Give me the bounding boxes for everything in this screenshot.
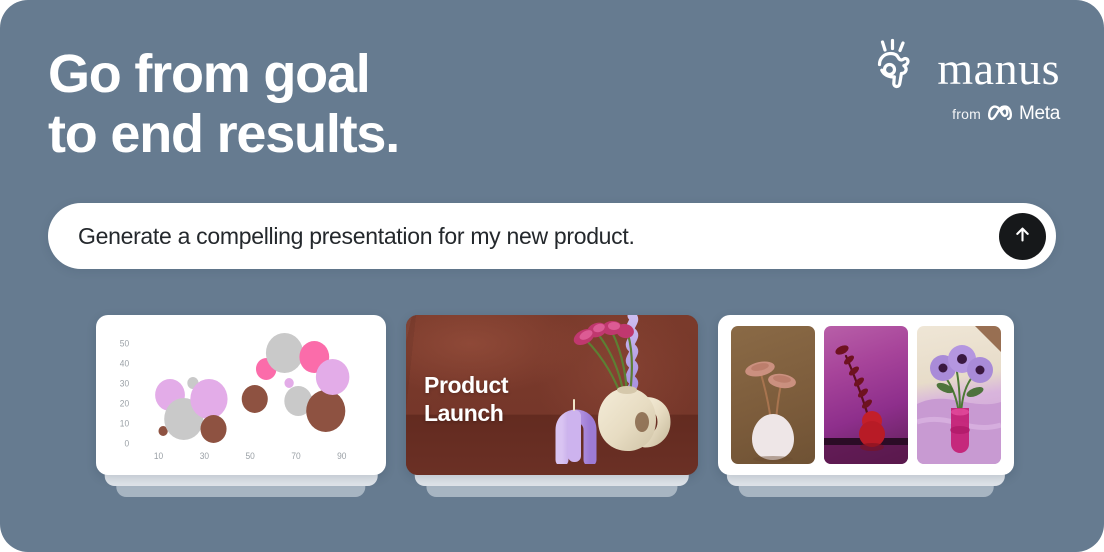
arrow-up-icon (1012, 224, 1033, 248)
product-still-life-image (524, 315, 694, 469)
card-row: 01020304050 1030507090 (0, 315, 1104, 515)
prompt-input[interactable]: Generate a compelling presentation for m… (78, 223, 999, 250)
meta-wordmark: Meta (1019, 103, 1060, 125)
manus-hand-logo-icon (865, 38, 921, 99)
thumb-purple-chrysanthemums[interactable] (917, 326, 1001, 464)
product-launch-card[interactable]: Product Launch (406, 315, 698, 475)
brand-attribution: from Meta (952, 103, 1060, 125)
chart-bubble (190, 379, 227, 419)
photo-gallery-card-stack (718, 315, 1014, 475)
product-launch-title: Product Launch (424, 371, 508, 427)
bubble-chart-card-stack: 01020304050 1030507090 (96, 315, 386, 475)
chart-x-tick-label: 90 (337, 451, 346, 461)
promo-banner: Go from goal to end results. manus from (0, 0, 1104, 552)
chart-x-tick-label: 30 (200, 451, 209, 461)
chart-bubble (316, 359, 350, 395)
bubble-chart-card[interactable]: 01020304050 1030507090 (96, 315, 386, 475)
chart-y-tick-label: 0 (124, 438, 129, 448)
from-label: from (952, 106, 981, 122)
meta-infinity-icon (987, 104, 1013, 125)
thumb-dried-flowers[interactable] (731, 326, 815, 464)
brand-row: manus (865, 38, 1060, 99)
submit-button[interactable] (999, 213, 1046, 260)
page-title: Go from goal to end results. (48, 44, 399, 164)
card-stack-layer-1 (727, 474, 1005, 486)
prompt-bar[interactable]: Generate a compelling presentation for m… (48, 203, 1056, 269)
chart-y-tick-label: 20 (120, 398, 129, 408)
chart-x-tick-label: 70 (291, 451, 300, 461)
chart-x-axis-ticks: 1030507090 (154, 451, 347, 461)
card-stack-layer-2 (426, 485, 677, 497)
bubble-chart: 01020304050 1030507090 (104, 325, 374, 469)
chart-y-tick-label: 50 (120, 338, 129, 348)
chart-bubble (284, 378, 293, 388)
thumb-red-gourd-vase[interactable] (824, 326, 908, 464)
chart-data-points (155, 333, 349, 443)
chart-x-tick-label: 50 (246, 451, 255, 461)
chart-bubble (306, 390, 345, 432)
chart-y-tick-label: 30 (120, 378, 129, 388)
card-stack-layer-1 (105, 474, 378, 486)
chart-bubble (266, 333, 303, 373)
chart-y-axis-ticks: 01020304050 (120, 338, 129, 448)
card-stack-layer-2 (116, 485, 365, 497)
card-stack-layer-1 (415, 474, 689, 486)
photo-gallery-card[interactable] (718, 315, 1014, 475)
product-launch-card-stack: Product Launch (406, 315, 698, 475)
chart-y-tick-label: 40 (120, 358, 129, 368)
brand-wordmark: manus (937, 46, 1060, 92)
card-stack-layer-2 (739, 485, 994, 497)
chart-y-tick-label: 10 (120, 418, 129, 428)
chart-bubble (200, 415, 226, 443)
chart-bubble (242, 385, 268, 413)
brand-lockup: manus from Meta (865, 38, 1060, 125)
chart-x-tick-label: 10 (154, 451, 163, 461)
